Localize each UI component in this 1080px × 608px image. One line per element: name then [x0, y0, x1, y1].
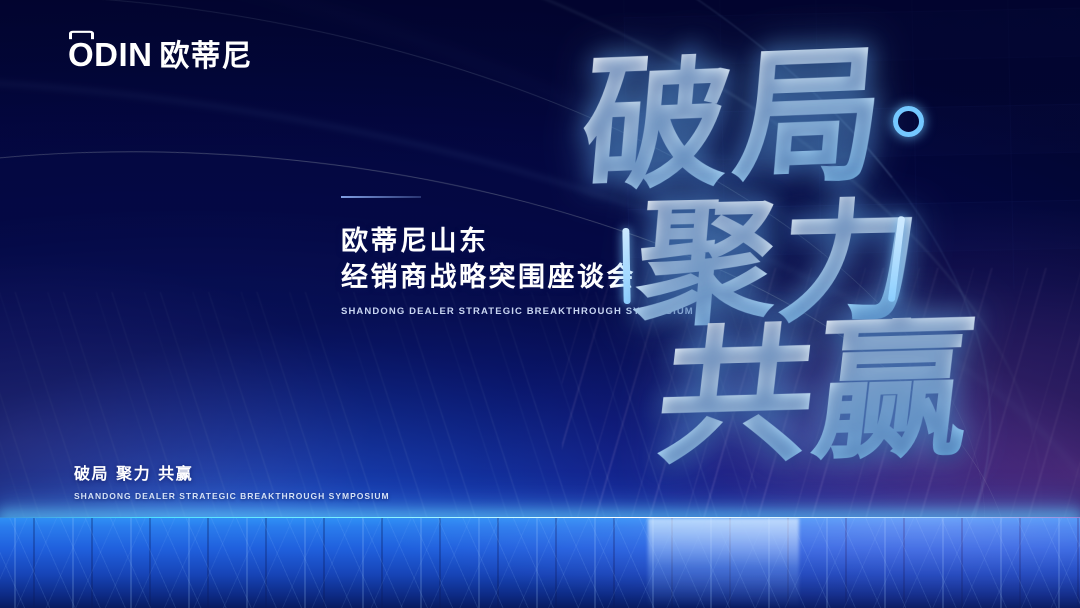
bottom-slogan-chinese: 破局 聚力 共赢 — [74, 466, 390, 482]
brand-logo-chinese: 欧蒂尼 — [160, 42, 253, 72]
event-backdrop-poster: ODIN 欧蒂尼 欧蒂尼山东 经销商战略突围座谈会 SHANDONG DEALE… — [0, 0, 1080, 608]
ground-plane — [0, 518, 1080, 608]
bottom-slogan-block: 破局 聚力 共赢 SHANDONG DEALER STRATEGIC BREAK… — [74, 466, 390, 501]
ground-magenta-tint — [0, 518, 1080, 608]
hero-calligraphy: 破局 聚力 共赢 — [575, 48, 1005, 468]
brand-logo-latin-rest: DIN — [94, 36, 152, 73]
hero-degree-circle-icon — [893, 106, 924, 137]
bottom-slogan-english: SHANDONG DEALER STRATEGIC BREAKTHROUGH S… — [74, 491, 390, 501]
logo-macron-icon — [69, 31, 94, 40]
hero-line-3: 共赢 — [650, 316, 979, 468]
brand-logo-latin: ODIN — [68, 38, 153, 71]
hero-accent-bar-left — [622, 228, 630, 304]
brand-logo: ODIN 欧蒂尼 — [68, 38, 253, 72]
brand-logo-latin-initial: O — [68, 36, 94, 73]
hero-line-1: 破局 — [577, 46, 894, 194]
title-divider-rule — [341, 196, 421, 198]
